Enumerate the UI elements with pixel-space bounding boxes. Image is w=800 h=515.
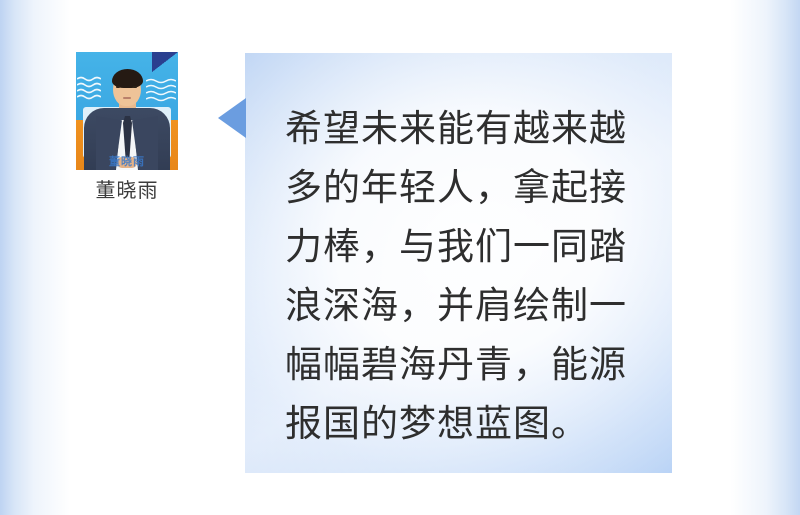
avatar-eye-right <box>133 86 137 88</box>
speaker-name: 董晓雨 <box>76 179 178 203</box>
wave-lines-left-icon <box>77 76 101 102</box>
avatar-corner-wedge-icon <box>152 52 178 72</box>
avatar-mouth <box>123 97 131 99</box>
avatar-watermark-text: 董晓雨 <box>76 156 178 168</box>
quote-card-page: 董晓雨 董晓雨 希望未来能有越来越 多的年轻人，拿起接 力棒，与我们一同踏 浪深… <box>0 0 800 515</box>
speech-bubble-arrow-icon <box>218 98 246 138</box>
quote-text: 希望未来能有越来越 多的年轻人，拿起接 力棒，与我们一同踏 浪深海，并肩绘制一 … <box>285 99 648 453</box>
avatar: 董晓雨 <box>76 52 178 170</box>
wave-lines-right-icon <box>146 78 176 104</box>
speech-bubble: 希望未来能有越来越 多的年轻人，拿起接 力棒，与我们一同踏 浪深海，并肩绘制一 … <box>245 53 672 473</box>
speaker-block: 董晓雨 董晓雨 <box>76 52 178 203</box>
avatar-eye-left <box>116 86 120 88</box>
